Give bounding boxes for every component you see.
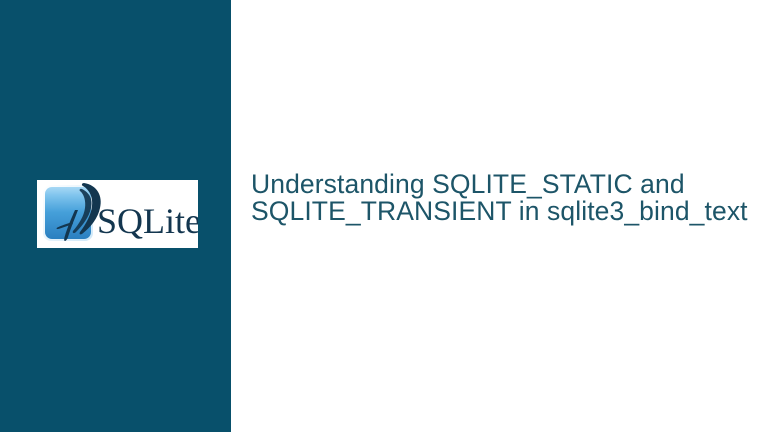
page-title: Understanding SQLITE_STATIC and SQLITE_T… [251, 171, 756, 225]
sqlite-logo-icon: SQLite [37, 180, 198, 248]
title-block: Understanding SQLITE_STATIC and SQLITE_T… [251, 171, 756, 225]
sqlite-wordmark: SQLite [97, 201, 198, 241]
sqlite-logo-card: SQLite [37, 180, 198, 248]
slide-canvas: SQLite Understanding SQLITE_STATIC and S… [0, 0, 768, 432]
sqlite-logo: SQLite [37, 180, 198, 248]
